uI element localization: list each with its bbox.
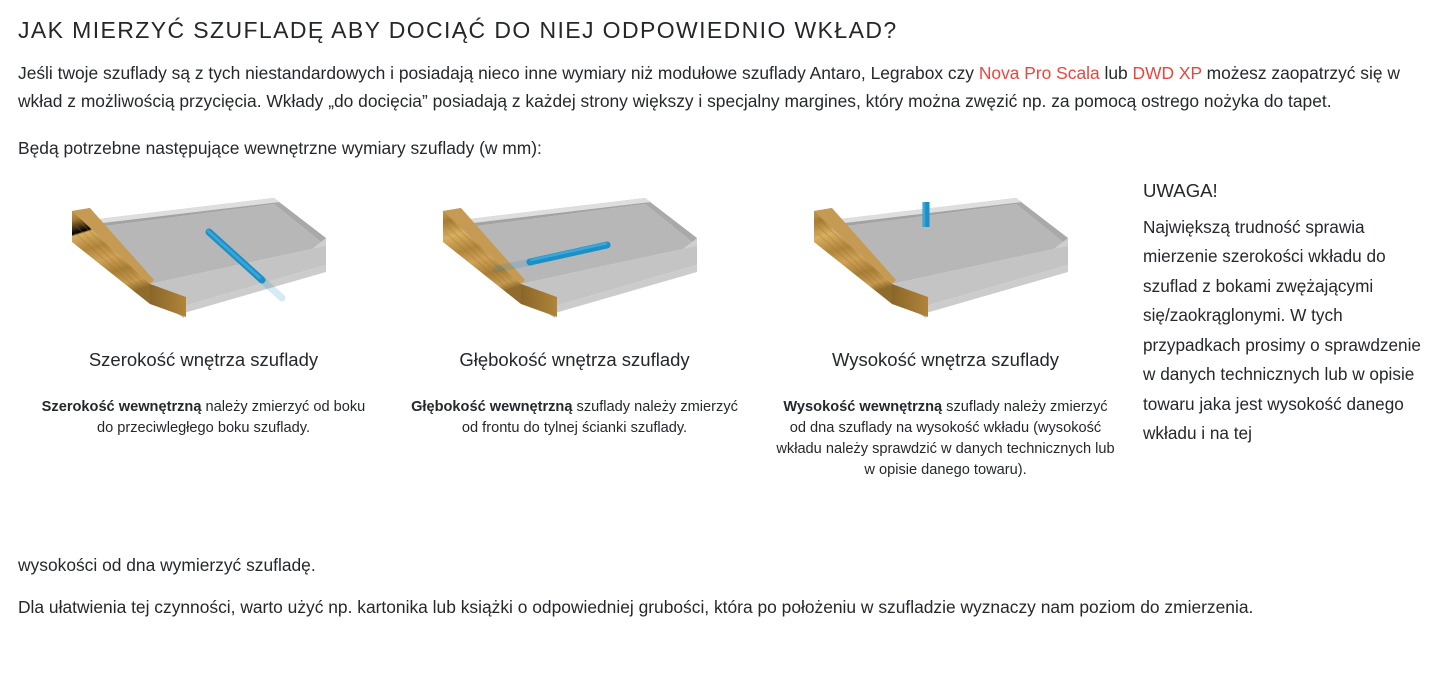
- intro-paragraph: Jeśli twoje szuflady są z tych niestanda…: [18, 59, 1415, 115]
- intro-text-part-2: lub: [1100, 63, 1133, 83]
- figure-desc-height-bold: Wysokość wewnętrzną: [783, 399, 942, 415]
- figure-title-depth: Głębokość wnętrza szuflady: [459, 348, 689, 372]
- figure-desc-depth-bold: Głębokość wewnętrzną: [411, 399, 572, 415]
- warning-note-title: UWAGA!: [1143, 176, 1431, 205]
- warning-note-body: Największą trudność sprawia mierzenie sz…: [1143, 213, 1431, 449]
- figure-title-width: Szerokość wnętrza szuflady: [89, 348, 318, 372]
- figure-width: Szerokość wnętrza szuflady Szerokość wew…: [18, 174, 389, 481]
- article-page: JAK MIERZYĆ SZUFLADĘ ABY DOCIĄĆ DO NIEJ …: [0, 0, 1433, 481]
- figure-desc-height: Wysokość wewnętrzną szuflady należy zmie…: [770, 397, 1122, 481]
- link-dwd-xp[interactable]: DWD XP: [1133, 63, 1202, 83]
- figure-depth: Głębokość wnętrza szuflady Głębokość wew…: [389, 174, 760, 481]
- tail-paragraph-2: Dla ułatwienia tej czynności, warto użyć…: [18, 593, 1415, 621]
- drawer-illustration-depth: [425, 180, 725, 332]
- figure-desc-width: Szerokość wewnętrzną należy zmierzyć od …: [28, 397, 380, 439]
- figures-section: Szerokość wnętrza szuflady Szerokość wew…: [18, 174, 1415, 481]
- figure-columns: Szerokość wnętrza szuflady Szerokość wew…: [18, 174, 1131, 481]
- figure-height: Wysokość wnętrza szuflady Wysokość wewnę…: [760, 174, 1131, 481]
- link-nova-pro-scala[interactable]: Nova Pro Scala: [979, 63, 1100, 83]
- needs-line: Będą potrzebne następujące wewnętrzne wy…: [18, 134, 1415, 162]
- figure-title-height: Wysokość wnętrza szuflady: [832, 348, 1059, 372]
- drawer-illustration-height: [796, 180, 1096, 332]
- page-title: JAK MIERZYĆ SZUFLADĘ ABY DOCIĄĆ DO NIEJ …: [18, 0, 1415, 59]
- figure-desc-width-bold: Szerokość wewnętrzną: [42, 399, 202, 415]
- figure-desc-depth: Głębokość wewnętrzną szuflady należy zmi…: [399, 397, 751, 439]
- drawer-illustration-width: [54, 180, 354, 332]
- warning-note: UWAGA! Największą trudność sprawia mierz…: [1131, 174, 1431, 449]
- tail-paragraph-1: wysokości od dna wymierzyć szufladę.: [18, 551, 1415, 579]
- intro-text-part-1: Jeśli twoje szuflady są z tych niestanda…: [18, 63, 979, 83]
